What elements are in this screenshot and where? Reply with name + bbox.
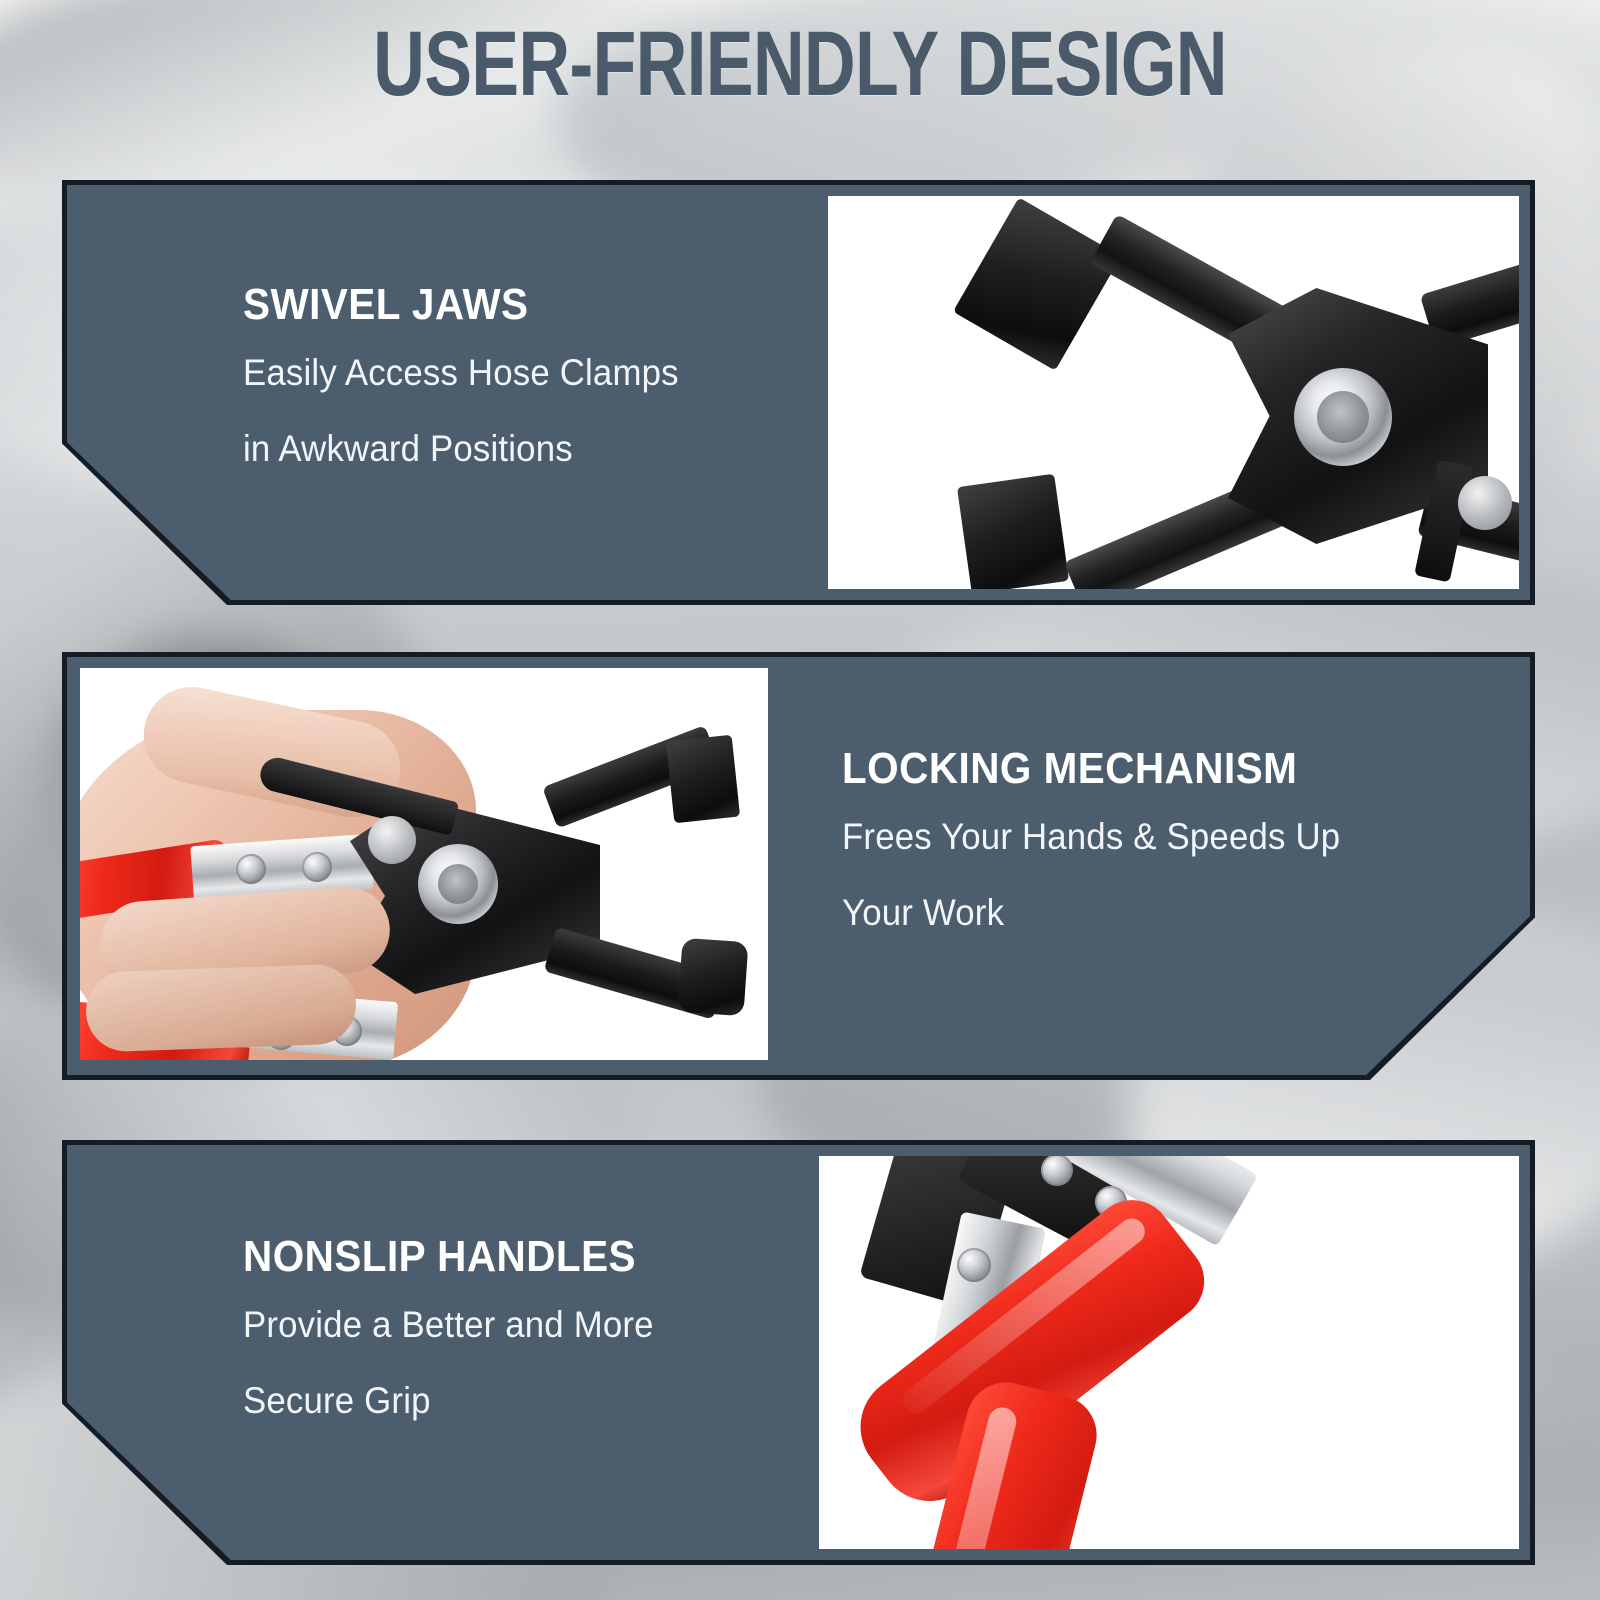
rivet-icon [236, 854, 266, 884]
rivet-icon [302, 852, 332, 882]
jaw-head-lower-icon [677, 938, 748, 1016]
feature-heading: NONSLIP HANDLES [243, 1232, 645, 1282]
feature-line-1: Provide a Better and More [243, 1304, 654, 1346]
jaw-head-upper-icon [666, 735, 740, 823]
feature-line-1: Frees Your Hands & Speeds Up [842, 816, 1340, 858]
feature-line-2: Secure Grip [243, 1380, 654, 1422]
jaw-head-lower-icon [957, 474, 1069, 589]
pivot-bolt-icon [1294, 368, 1392, 466]
panel-2-text: LOCKING MECHANISM Frees Your Hands & Spe… [842, 744, 1372, 968]
panel-1-text: SWIVEL JAWS Easily Access Hose Clamps in… [243, 280, 707, 504]
jaw-head-upper-icon [953, 197, 1121, 370]
feature-heading: LOCKING MECHANISM [842, 744, 1330, 794]
product-image-nonslip-handles [819, 1156, 1519, 1549]
feature-heading: SWIVEL JAWS [243, 280, 669, 330]
lock-knob-icon [368, 816, 416, 864]
feature-panel-swivel-jaws: SWIVEL JAWS Easily Access Hose Clamps in… [62, 180, 1535, 605]
feature-panel-nonslip-handles: NONSLIP HANDLES Provide a Better and Mor… [62, 1140, 1535, 1565]
feature-line-2: Your Work [842, 892, 1340, 934]
feature-line-1: Easily Access Hose Clamps [243, 352, 679, 394]
finger [85, 963, 358, 1052]
product-image-swivel-jaws [828, 196, 1519, 589]
page-title: USER-FRIENDLY DESIGN [176, 16, 1424, 113]
product-image-locking-mechanism [80, 668, 768, 1060]
pivot-bolt-icon [418, 844, 498, 924]
feature-line-2: in Awkward Positions [243, 428, 679, 470]
rivet-icon [957, 1248, 991, 1282]
lock-knob-icon [1458, 476, 1512, 530]
feature-panel-locking-mechanism: LOCKING MECHANISM Frees Your Hands & Spe… [62, 652, 1535, 1080]
panel-3-text: NONSLIP HANDLES Provide a Better and Mor… [243, 1232, 680, 1456]
